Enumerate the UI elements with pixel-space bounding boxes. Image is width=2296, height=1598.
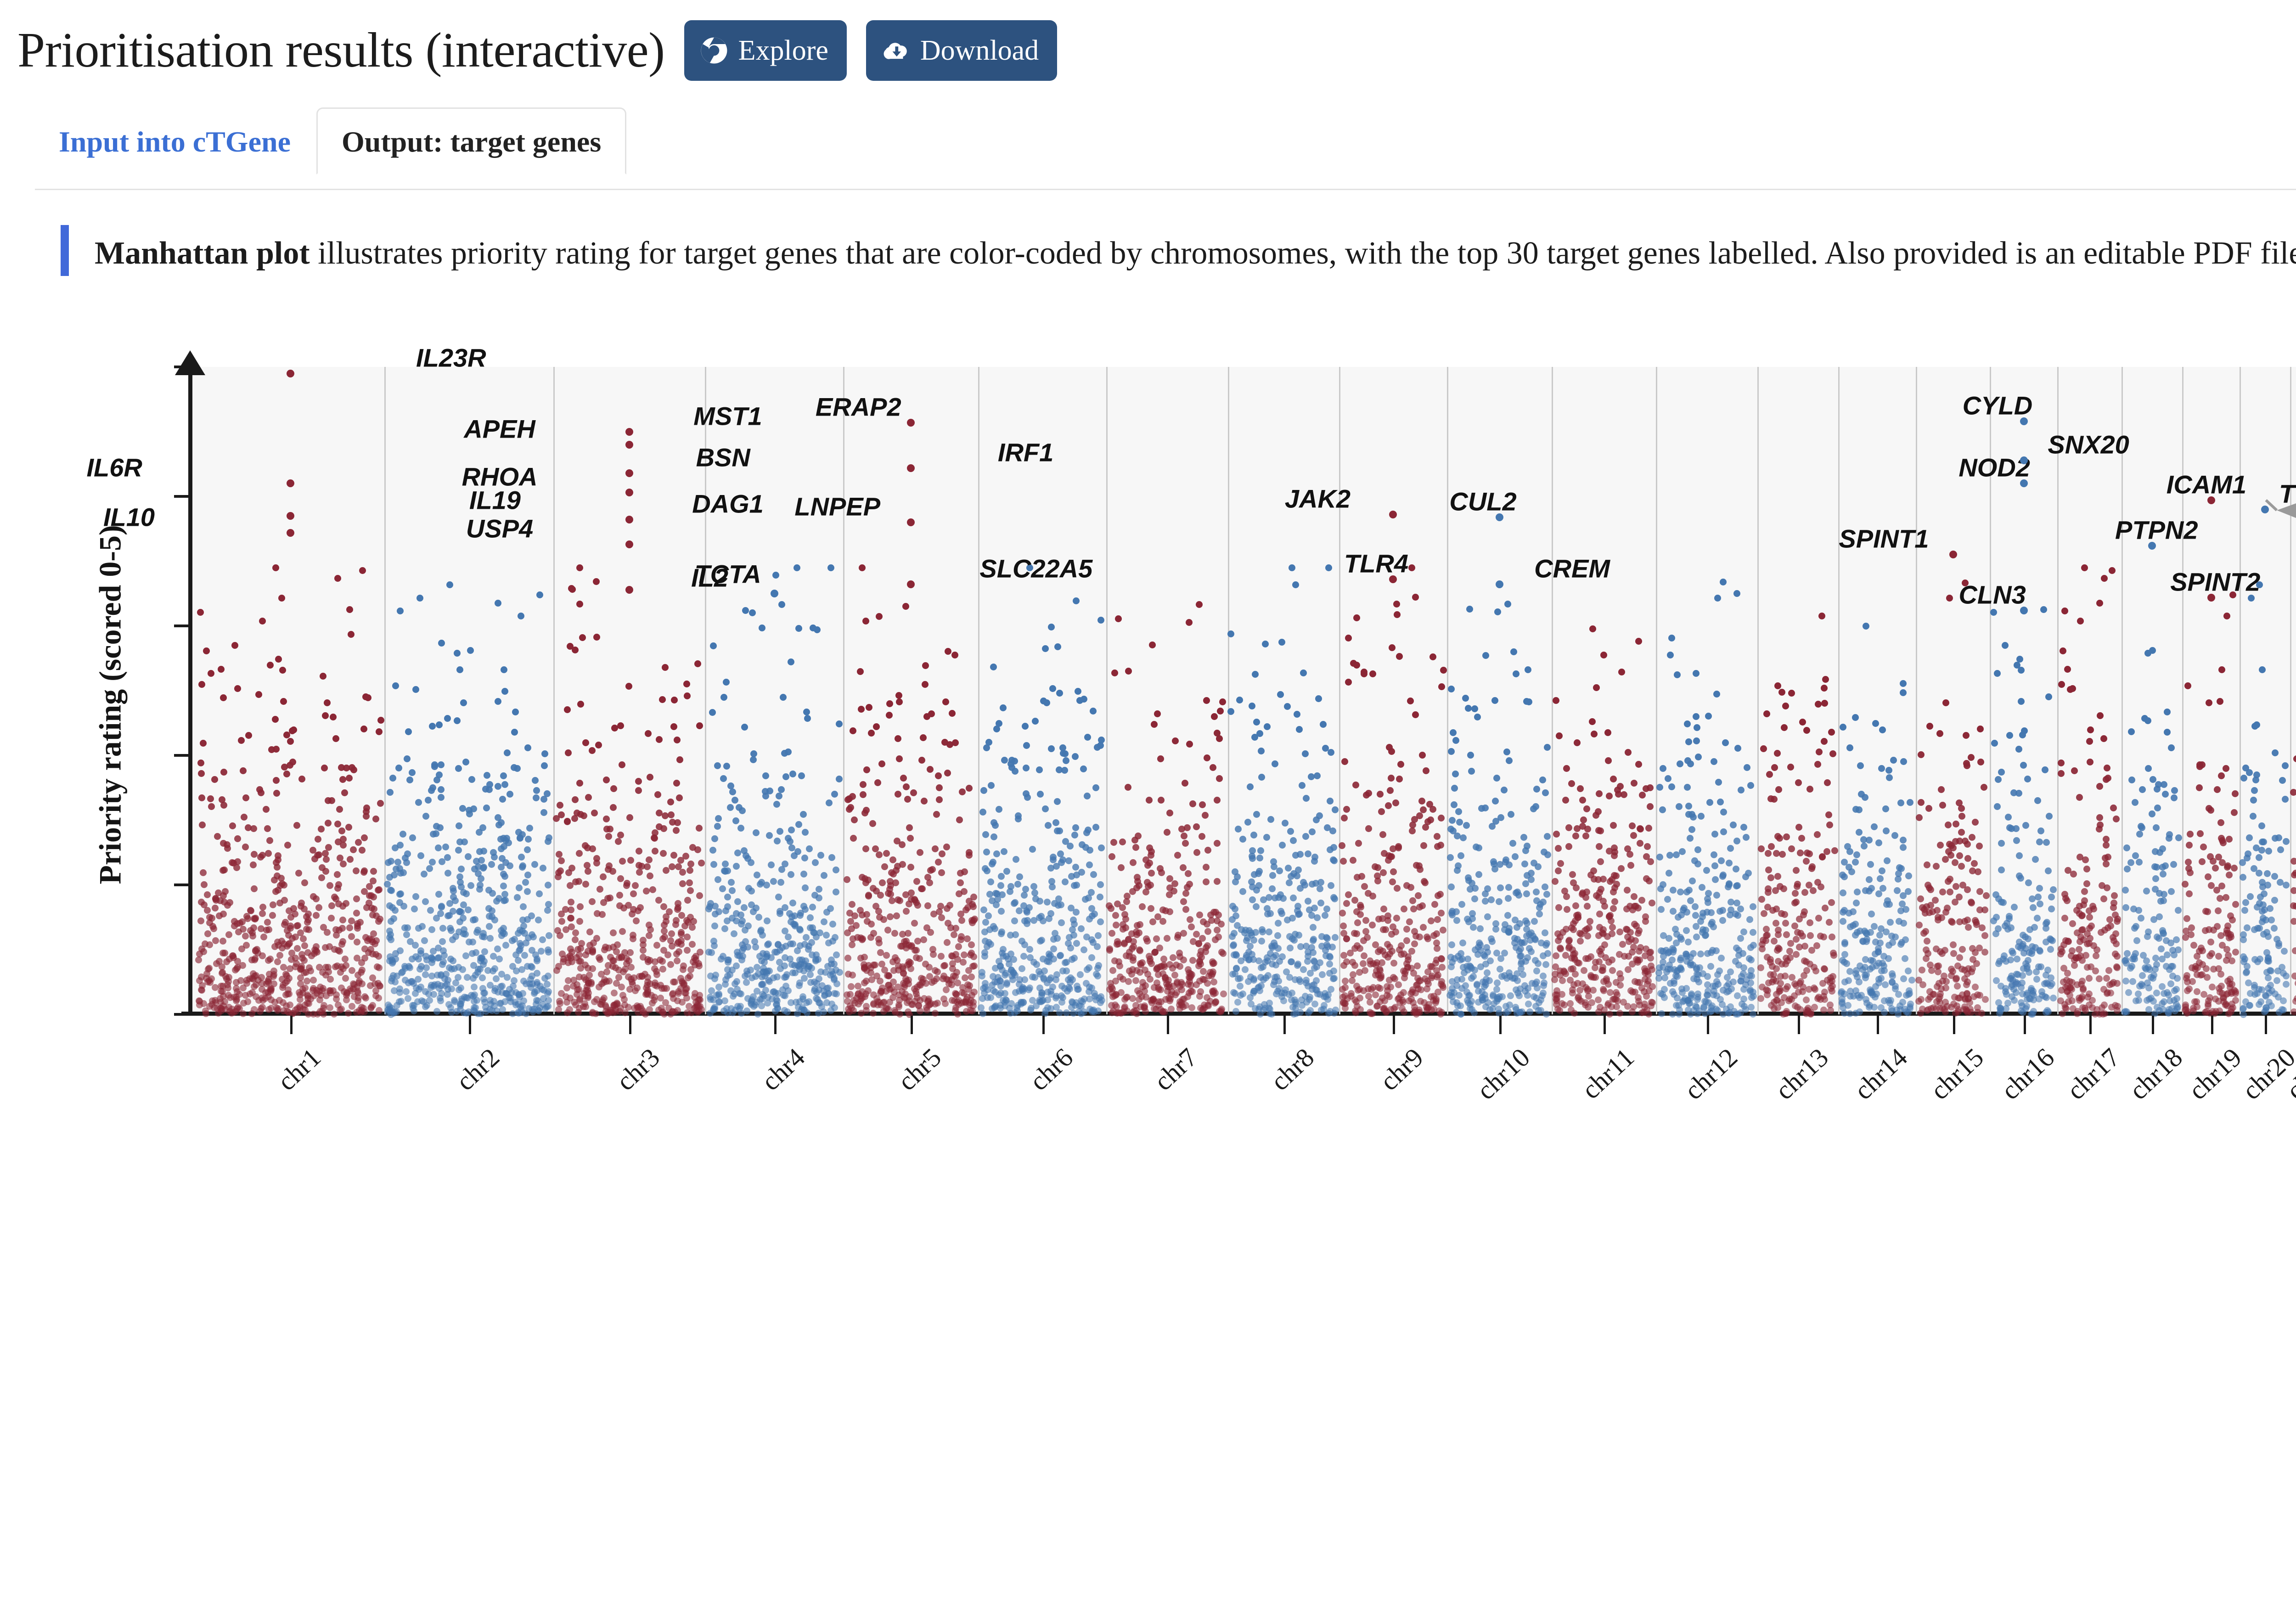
scatter-point: [823, 909, 830, 916]
scatter-point: [1417, 866, 1424, 873]
scatter-point: [1379, 959, 1385, 966]
scatter-point: [1220, 950, 1227, 957]
scatter-point: [1048, 878, 1055, 885]
scatter-point: [278, 595, 285, 602]
scatter-point: [1734, 882, 1741, 889]
scatter-point: [833, 951, 840, 958]
scatter-point: [484, 772, 490, 779]
scatter-point: [1543, 1011, 1550, 1018]
download-button[interactable]: Download: [866, 20, 1057, 81]
scatter-point: [1203, 878, 1210, 885]
scatter-point: [315, 904, 322, 911]
scatter-point: [911, 920, 918, 927]
scatter-point: [1525, 1001, 1532, 1007]
scatter-point: [1180, 957, 1187, 963]
scatter-point: [962, 906, 969, 913]
scatter-point: [1739, 1001, 1745, 1007]
scatter-point: [646, 932, 653, 939]
scatter-point: [1409, 897, 1416, 904]
scatter-point: [1282, 820, 1289, 827]
scatter-point: [1713, 1006, 1720, 1013]
scatter-point: [642, 971, 648, 978]
scatter-point: [1369, 1010, 1376, 1017]
scatter-point: [417, 852, 424, 859]
explore-button[interactable]: Explore: [684, 20, 847, 81]
scatter-point: [1430, 1006, 1437, 1013]
scatter-point: [1412, 594, 1419, 601]
scatter-point: [1193, 849, 1200, 856]
scatter-point: [990, 819, 997, 826]
scatter-point: [1556, 1007, 1563, 1014]
scatter-point: [1557, 945, 1564, 952]
scatter-point: [1199, 833, 1205, 840]
scatter-point: [814, 626, 821, 633]
scatter-point: [225, 985, 231, 991]
scatter-point: [997, 983, 1004, 990]
scatter-point: [909, 1001, 916, 1008]
scatter-point: [572, 878, 579, 885]
scatter-point: [1164, 935, 1171, 942]
scatter-point: [1438, 683, 1445, 690]
scatter-point: [1577, 785, 1584, 792]
scatter-point: [788, 658, 794, 665]
scatter-point: [448, 985, 455, 992]
scatter-point: [485, 887, 492, 894]
scatter-point: [617, 722, 624, 729]
scatter-point: [785, 934, 792, 940]
scatter-point: [952, 973, 959, 980]
scatter-point: [499, 1006, 506, 1013]
scatter-point: [1423, 767, 1429, 774]
scatter-point: [836, 720, 843, 727]
scatter-point: [711, 923, 718, 929]
scatter-point: [1720, 809, 1727, 816]
scatter-point: [1711, 862, 1718, 869]
scatter-point: [342, 956, 349, 962]
scatter-point: [1649, 900, 1655, 906]
scatter-point: [1438, 910, 1445, 917]
scatter-point: [979, 809, 986, 816]
scatter-point: [853, 995, 860, 1002]
scatter-point: [363, 904, 370, 911]
scatter-point: [569, 586, 576, 593]
scatter-point: [1233, 965, 1240, 972]
scatter-point: [680, 966, 687, 973]
scatter-point: [1540, 973, 1547, 979]
scatter-point: [1278, 639, 1285, 646]
scatter-point: [504, 749, 511, 756]
scatter-point: [1470, 924, 1477, 931]
scatter-point: [1159, 1008, 1166, 1015]
scatter-point: [1033, 961, 1040, 968]
scatter-point: [1727, 845, 1734, 852]
y-tick-mark: [174, 625, 188, 627]
scatter-point: [1607, 989, 1614, 996]
scatter-point: [1072, 824, 1079, 831]
scatter-point: [1609, 930, 1615, 937]
scatter-point: [491, 854, 498, 861]
scatter-point: [259, 1004, 266, 1011]
scatter-point: [694, 1002, 701, 1008]
scatter-point: [937, 903, 944, 910]
scatter-point: [259, 986, 265, 993]
scatter-point: [774, 838, 781, 844]
scatter-point: [1672, 972, 1679, 979]
scatter-point: [1343, 958, 1350, 965]
scatter-point: [1438, 815, 1445, 822]
scatter-point: [1244, 819, 1251, 826]
scatter-point: [436, 721, 443, 728]
scatter-point: [576, 601, 583, 608]
scatter-point: [1429, 653, 1436, 660]
scatter-point: [870, 1010, 877, 1017]
scatter-point: [320, 673, 326, 680]
scatter-point: [1023, 765, 1030, 771]
scatter-point: [265, 1006, 272, 1013]
scatter-point: [297, 980, 304, 987]
scatter-point: [828, 961, 835, 968]
scatter-point: [982, 865, 989, 872]
scatter-point: [1186, 741, 1193, 748]
scatter-point: [593, 935, 600, 942]
scatter-point: [748, 1000, 754, 1007]
scatter-point: [354, 955, 360, 962]
scatter-point: [733, 910, 740, 917]
scatter-point: [617, 1005, 624, 1012]
scatter-point: [812, 859, 819, 866]
scatter-point: [313, 895, 320, 902]
scatter-point: [1448, 686, 1455, 692]
scatter-point: [1468, 998, 1475, 1005]
scatter-point: [286, 907, 293, 914]
scatter-point: [1231, 930, 1238, 937]
chromosome-separator: [2290, 367, 2291, 1014]
scatter-point: [1696, 1007, 1703, 1014]
scatter-point: [724, 867, 731, 874]
scatter-point: [1728, 985, 1735, 992]
scatter-point: [1750, 929, 1756, 936]
scatter-point: [1120, 921, 1126, 928]
scatter-point: [1448, 941, 1455, 948]
scatter-point: [1325, 564, 1332, 571]
scatter-point: [412, 942, 419, 949]
scatter-point: [720, 1007, 727, 1014]
scatter-point: [1523, 698, 1530, 705]
scatter-point: [438, 761, 445, 768]
scatter-point: [1186, 978, 1193, 985]
scatter-point: [334, 821, 341, 827]
scatter-point: [340, 836, 347, 843]
scatter-point: [412, 686, 419, 693]
scatter-point: [1170, 954, 1176, 961]
scatter-point: [1616, 1010, 1623, 1017]
scatter-point: [348, 933, 355, 940]
scatter-point: [928, 710, 935, 717]
scatter-point: [295, 870, 302, 877]
scatter-point: [886, 712, 893, 719]
scatter-point: [589, 948, 596, 955]
scatter-point: [629, 911, 636, 917]
scatter-point: [425, 797, 432, 804]
scatter-point: [528, 912, 535, 919]
scatter-point: [1180, 898, 1187, 905]
scatter-point: [971, 962, 978, 969]
scatter-point: [242, 992, 249, 999]
scatter-point: [1656, 854, 1663, 861]
scatter-point: [369, 1002, 376, 1009]
scatter-point: [1411, 928, 1418, 935]
scatter-point: [879, 879, 886, 886]
scatter-point: [1166, 810, 1173, 816]
scatter-point: [240, 767, 247, 774]
scatter-point: [1115, 615, 1122, 622]
scatter-point: [1472, 885, 1479, 892]
scatter-point: [279, 984, 286, 991]
scatter-point: [759, 625, 765, 631]
scatter-point: [397, 842, 404, 849]
scatter-point: [456, 986, 462, 993]
scatter-point: [336, 948, 343, 955]
scatter-point: [1023, 790, 1030, 797]
scatter-point: [798, 772, 805, 779]
scatter-point: [1501, 787, 1508, 793]
scatter-point: [795, 821, 802, 828]
scatter-point: [857, 955, 864, 962]
scatter-point: [1524, 992, 1531, 999]
scatter-point: [1410, 999, 1417, 1006]
scatter-point: [328, 797, 335, 804]
scatter-point: [1086, 1006, 1093, 1013]
scatter-point: [1340, 858, 1347, 865]
scatter-point: [458, 909, 465, 916]
scatter-point: [1455, 808, 1462, 815]
scatter-point: [1669, 1011, 1676, 1018]
scatter-point: [1474, 981, 1480, 988]
tab-input-into-ctgene[interactable]: Input into cTGene: [35, 109, 315, 173]
scatter-point: [487, 982, 494, 989]
scatter-point: [809, 904, 816, 911]
scatter-point: [535, 1007, 541, 1013]
scatter-point: [1175, 932, 1182, 939]
scatter-point: [1740, 986, 1747, 993]
scatter-point: [1658, 906, 1665, 913]
scatter-point: [1046, 976, 1053, 983]
scatter-point: [506, 791, 513, 798]
scatter-point: [339, 917, 346, 923]
scatter-point: [1605, 1000, 1612, 1007]
scatter-point: [446, 900, 453, 907]
scatter-point: [868, 730, 875, 737]
scatter-point: [1750, 1011, 1756, 1018]
scatter-point: [1264, 723, 1271, 730]
scatter-point: [524, 744, 531, 751]
scatter-point: [450, 894, 457, 900]
scatter-point: [234, 685, 241, 692]
scatter-point: [1568, 780, 1575, 787]
scatter-point: [1666, 852, 1673, 859]
scatter-point: [1121, 1005, 1128, 1012]
scatter-point: [1535, 863, 1542, 870]
scatter-point: [1247, 943, 1254, 950]
scatter-point: [1234, 999, 1241, 1006]
scatter-point: [1393, 915, 1400, 922]
scatter-point: [211, 776, 218, 783]
scatter-point: [1645, 978, 1652, 985]
scatter-point: [514, 894, 521, 901]
scatter-point: [307, 968, 314, 974]
scatter-point: [389, 1008, 396, 1015]
scatter-point: [1407, 698, 1414, 704]
scatter-point: [1512, 853, 1519, 860]
scatter-point: [1400, 989, 1407, 996]
scatter-point: [1020, 902, 1027, 909]
scatter-point: [307, 996, 314, 1002]
scatter-point: [711, 942, 718, 949]
scatter-point: [689, 941, 696, 948]
scatter-point: [1524, 843, 1531, 850]
scatter-point: [1193, 823, 1200, 830]
scatter-point: [1326, 961, 1333, 968]
scatter-point: [749, 609, 756, 616]
scatter-point: [1090, 939, 1097, 946]
scatter-point: [1636, 927, 1643, 934]
scatter-point: [1340, 952, 1347, 959]
scatter-point: [1718, 955, 1725, 962]
scatter-point: [1596, 843, 1603, 850]
scatter-point: [674, 737, 681, 743]
scatter-point: [1504, 912, 1511, 919]
scatter-point: [1712, 876, 1719, 883]
scatter-point: [198, 987, 205, 994]
scatter-point: [421, 937, 428, 944]
scatter-point: [867, 969, 874, 976]
scatter-point: [361, 834, 368, 841]
scatter-point: [1232, 878, 1239, 885]
scatter-point: [1576, 930, 1583, 937]
scatter-point: [1292, 852, 1299, 859]
scatter-point: [780, 694, 787, 701]
scatter-point: [1216, 775, 1223, 782]
scatter-point: [1139, 959, 1146, 966]
scatter-point: [525, 836, 532, 843]
scatter-point: [1533, 995, 1540, 1002]
scatter-point: [945, 648, 951, 655]
scatter-point: [499, 989, 506, 996]
scatter-point: [997, 882, 1004, 889]
scatter-point: [652, 829, 658, 836]
scatter-point: [1568, 1007, 1575, 1013]
scatter-point: [460, 699, 467, 706]
scatter-point: [1513, 889, 1519, 896]
scatter-point: [1678, 966, 1685, 973]
scatter-point: [1434, 916, 1441, 923]
scatter-point: [536, 890, 543, 897]
scatter-point: [1677, 889, 1684, 895]
scatter-point: [1570, 879, 1577, 886]
scatter-point: [800, 811, 807, 818]
scatter-point: [1189, 957, 1196, 964]
scatter-point: [210, 925, 217, 932]
scatter-point: [687, 867, 693, 874]
scatter-point: [741, 904, 748, 911]
scatter-point: [1386, 944, 1393, 951]
scatter-point: [511, 936, 518, 943]
scatter-point: [1643, 1007, 1650, 1013]
scatter-point: [989, 861, 996, 867]
scatter-point: [1557, 860, 1564, 867]
scatter-point: [1142, 982, 1149, 989]
scatter-point: [1570, 965, 1576, 972]
scatter-point: [1624, 845, 1631, 852]
scatter-point: [1695, 754, 1702, 760]
scatter-point: [1389, 644, 1396, 651]
scatter-point: [531, 861, 538, 868]
scatter-point: [293, 923, 300, 929]
scatter-point: [1062, 750, 1069, 757]
scatter-point: [952, 739, 959, 746]
scatter-point: [1286, 974, 1293, 981]
chromosome-separator: [1106, 367, 1108, 1014]
scatter-point: [1748, 957, 1755, 963]
scatter-point: [1609, 967, 1616, 974]
scatter-point: [1627, 987, 1634, 994]
scatter-point: [1330, 856, 1337, 863]
scatter-point: [1412, 711, 1419, 718]
scatter-point: [272, 888, 279, 895]
download-button-label: Download: [920, 36, 1039, 65]
scatter-point: [271, 943, 278, 950]
scatter-point: [969, 919, 976, 926]
scatter-point: [536, 591, 543, 598]
scatter-point: [1086, 861, 1093, 868]
scatter-point: [1572, 833, 1579, 839]
scatter-point: [1482, 890, 1489, 897]
scatter-point: [1683, 909, 1690, 916]
scatter-point: [948, 981, 955, 988]
scatter-point: [926, 973, 933, 980]
scatter-point: [412, 990, 419, 997]
tab-output-target-genes[interactable]: Output: target genes: [316, 107, 626, 174]
scatter-point: [1588, 999, 1595, 1006]
scatter-point: [1260, 963, 1266, 970]
scatter-point: [611, 990, 618, 996]
scatter-point: [1182, 780, 1188, 787]
scatter-point: [1267, 910, 1274, 917]
scatter-point: [1276, 867, 1283, 874]
scatter-point: [586, 928, 593, 935]
scatter-point: [455, 765, 462, 772]
scatter-point: [967, 951, 974, 958]
scatter-point: [415, 799, 422, 806]
scatter-point: [1582, 833, 1589, 839]
scatter-point: [1296, 911, 1303, 917]
scatter-point: [737, 825, 744, 832]
scatter-point: [346, 924, 353, 931]
scatter-point: [212, 984, 219, 991]
scatter-point: [597, 886, 603, 893]
scatter-point: [1497, 966, 1503, 973]
scatter-point: [495, 895, 502, 902]
scatter-point: [817, 852, 824, 859]
scatter-point: [257, 854, 264, 861]
scatter-point: [1747, 979, 1754, 986]
scatter-point: [1693, 713, 1699, 720]
scatter-point: [1340, 923, 1347, 929]
tab-bar: Input into cTGene Output: target genes: [0, 107, 2296, 190]
scatter-point: [1467, 963, 1474, 970]
scatter-point: [1137, 947, 1143, 954]
scatter-point: [274, 958, 281, 965]
